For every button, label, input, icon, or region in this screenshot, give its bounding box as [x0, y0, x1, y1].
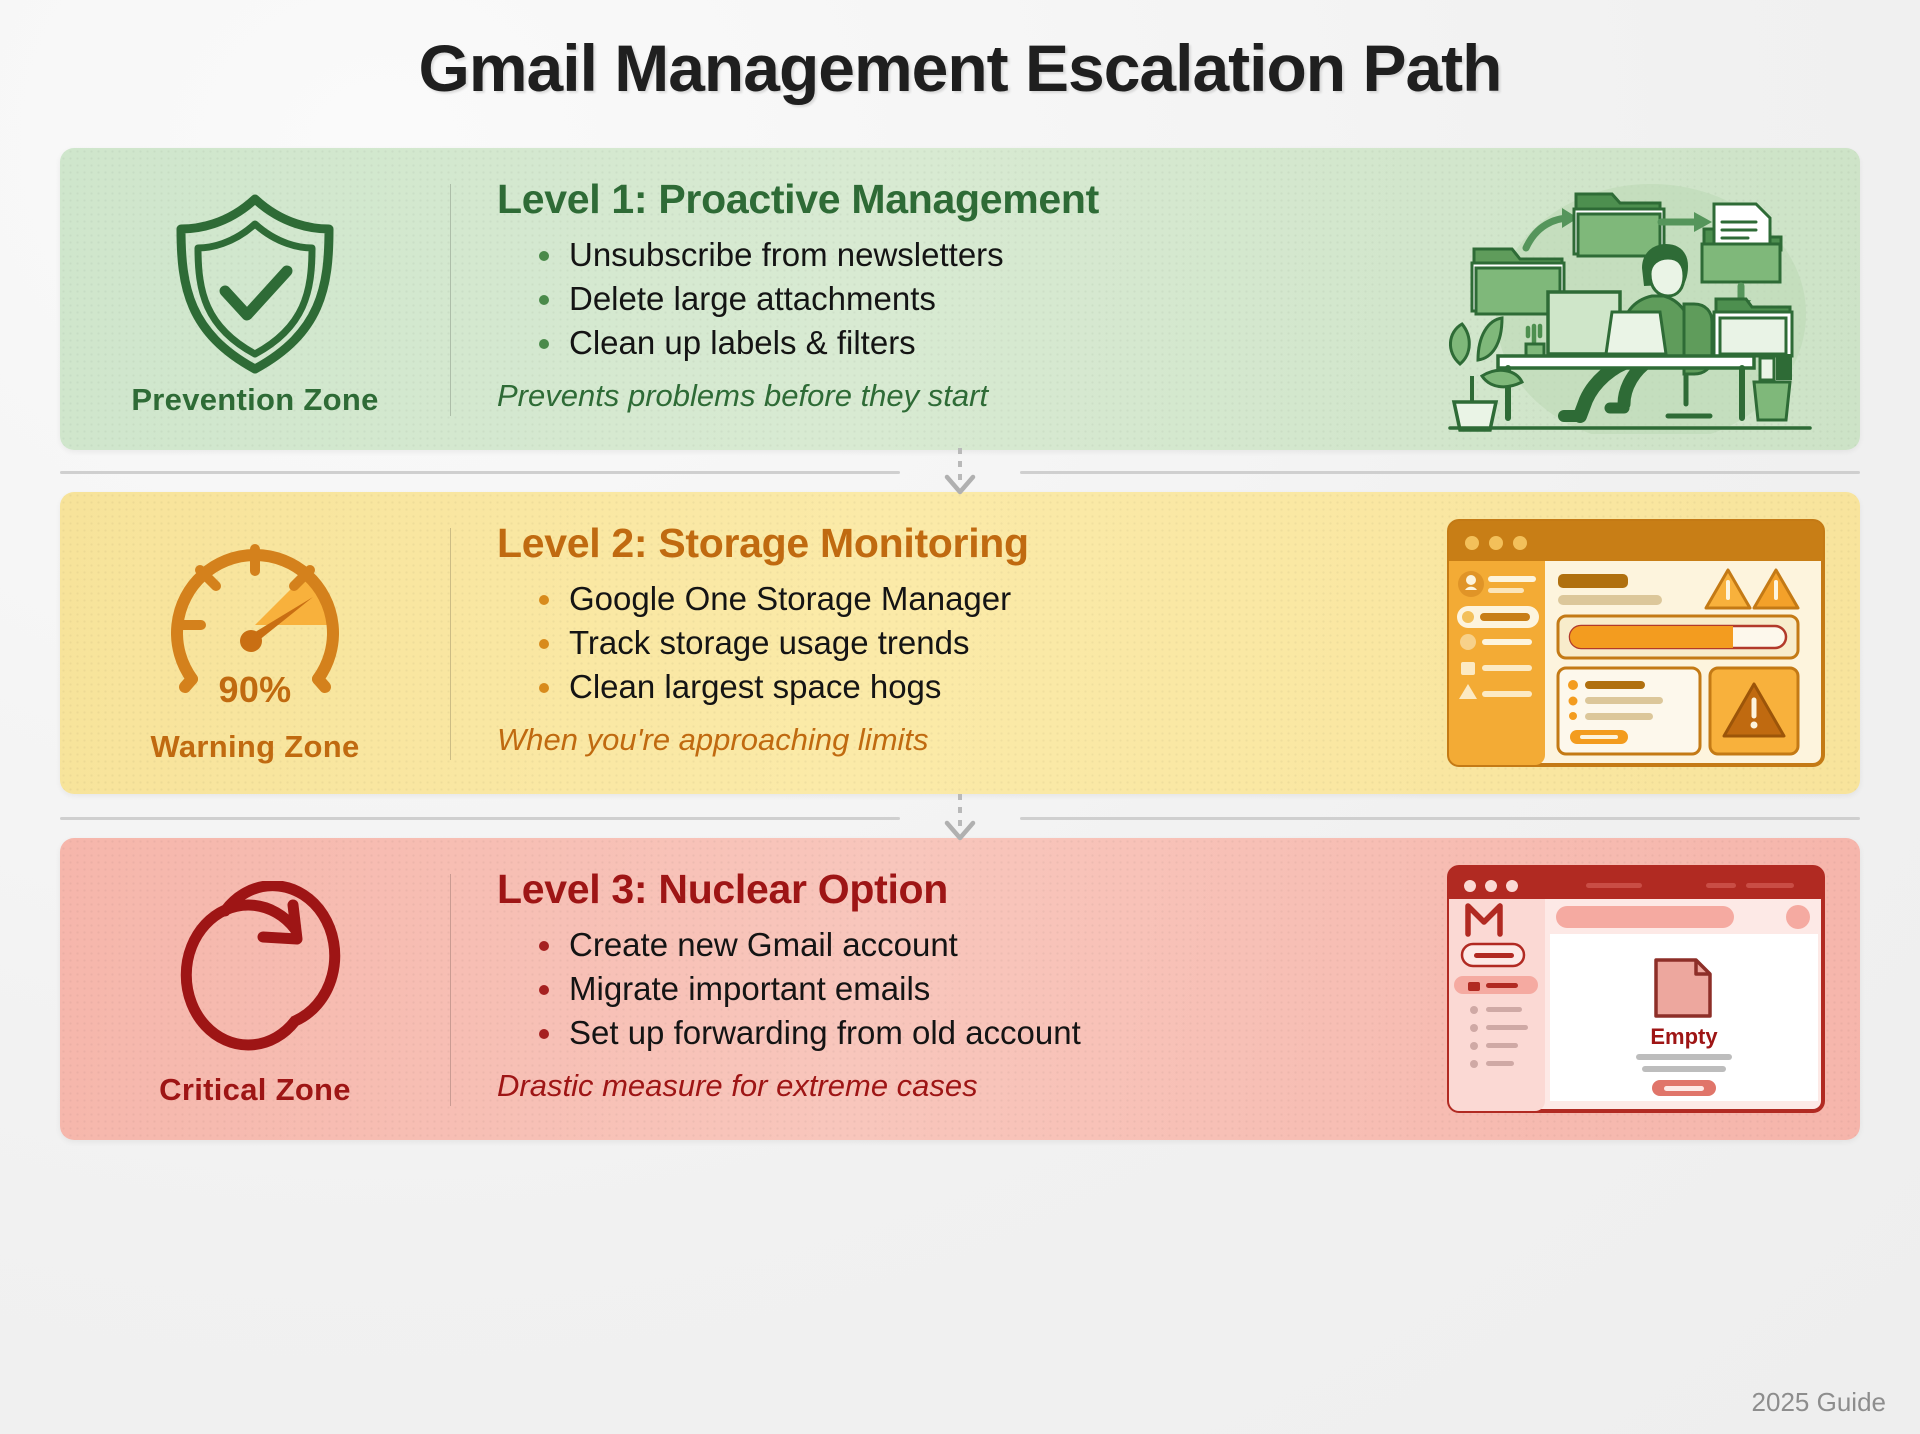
- connector-level-1-to-2: [60, 450, 1860, 494]
- infographic-page: Gmail Management Escalation Path Prevent…: [0, 0, 1920, 1434]
- level-3-body: Level 3: Nuclear Option Create new Gmail…: [451, 838, 1430, 1140]
- list-item: Set up forwarding from old account: [539, 1011, 1430, 1055]
- list-item: Migrate important emails: [539, 967, 1430, 1011]
- connector-line-right: [1020, 471, 1860, 474]
- chevron-down-icon: [940, 794, 980, 842]
- list-item: Clean up labels & filters: [539, 321, 1430, 365]
- connector-line-left: [60, 471, 900, 474]
- level-1-panel: Prevention Zone Level 1: Proactive Manag…: [60, 148, 1860, 450]
- footer-credit: 2025 Guide: [1752, 1387, 1886, 1418]
- list-item: Create new Gmail account: [539, 923, 1430, 967]
- level-3-panel: Critical Zone Level 3: Nuclear Option Cr…: [60, 838, 1860, 1140]
- list-item: Track storage usage trends: [539, 621, 1430, 665]
- shield-check-icon: [167, 194, 343, 374]
- connector-line-right: [1020, 817, 1860, 820]
- level-1-zone-label: Prevention Zone: [131, 382, 378, 418]
- level-1-body: Level 1: Proactive Management Unsubscrib…: [451, 148, 1430, 450]
- level-1-zone-column: Prevention Zone: [60, 148, 450, 450]
- level-1-tagline: Prevents problems before they start: [497, 378, 1430, 414]
- level-3-zone-column: Critical Zone: [60, 838, 450, 1140]
- connector-level-2-to-3: [60, 796, 1860, 840]
- page-title-container: Gmail Management Escalation Path: [0, 30, 1920, 106]
- chevron-down-icon: [940, 448, 980, 496]
- empty-gmail-inbox-window-illustration: Empty: [1430, 838, 1860, 1140]
- page-title: Gmail Management Escalation Path: [0, 30, 1920, 106]
- connector-line-left: [60, 817, 900, 820]
- level-2-title: Level 2: Storage Monitoring: [497, 520, 1430, 567]
- level-2-panel: 90% Warning Zone Level 2: Storage Monito…: [60, 492, 1860, 794]
- level-2-zone-column: 90% Warning Zone: [60, 492, 450, 794]
- storage-dashboard-window-illustration: [1430, 492, 1860, 794]
- level-1-bullet-list: Unsubscribe from newsletters Delete larg…: [539, 233, 1430, 366]
- refresh-circular-arrow-icon: [165, 884, 345, 1064]
- level-3-bullet-list: Create new Gmail account Migrate importa…: [539, 923, 1430, 1056]
- level-3-title: Level 3: Nuclear Option: [497, 866, 1430, 913]
- level-2-body: Level 2: Storage Monitoring Google One S…: [451, 492, 1430, 794]
- level-3-zone-label: Critical Zone: [159, 1072, 351, 1108]
- level-1-title: Level 1: Proactive Management: [497, 176, 1430, 223]
- level-2-zone-label: Warning Zone: [150, 729, 359, 765]
- list-item: Unsubscribe from newsletters: [539, 233, 1430, 277]
- level-2-bullet-list: Google One Storage Manager Track storage…: [539, 577, 1430, 710]
- level-3-tagline: Drastic measure for extreme cases: [497, 1068, 1430, 1104]
- list-item: Google One Storage Manager: [539, 577, 1430, 621]
- level-2-tagline: When you're approaching limits: [497, 722, 1430, 758]
- list-item: Clean largest space hogs: [539, 665, 1430, 709]
- empty-state-label: Empty: [1650, 1024, 1718, 1049]
- person-at-desk-organizing-folders-illustration: [1430, 148, 1860, 450]
- gauge-value-label: 90%: [219, 669, 292, 711]
- list-item: Delete large attachments: [539, 277, 1430, 321]
